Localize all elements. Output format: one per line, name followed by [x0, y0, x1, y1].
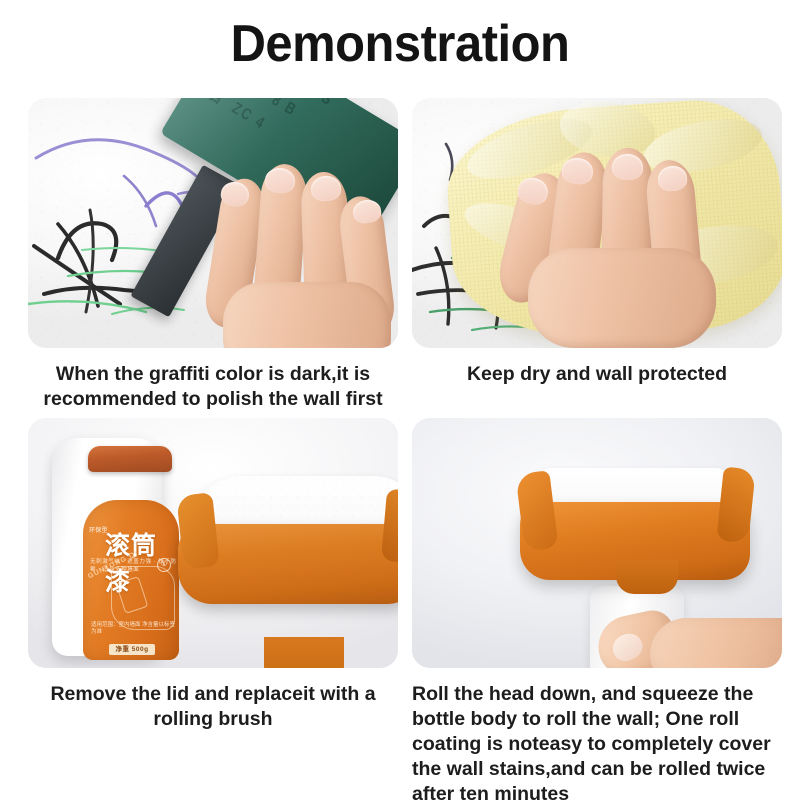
photo-polish-wall: QBTAOZC 45 S研磨海绵 8 B细目 ZC 4: [28, 98, 398, 348]
paint-bottle: 环保型 滚筒漆 无刺激气味 · 遮盖力强 · 快干防霉 · 适合多种墙面 GUN…: [52, 438, 162, 656]
caption-polish-wall: When the graffiti color is dark,it is re…: [28, 362, 398, 412]
roller-arm-left: [176, 492, 220, 569]
photo-roll-wall: [412, 418, 782, 668]
bottle-cap: [88, 446, 172, 472]
photo-replace-lid: 环保型 滚筒漆 无刺激气味 · 遮盖力强 · 快干防霉 · 适合多种墙面 GUN…: [28, 418, 398, 668]
panel-replace-lid: 环保型 滚筒漆 无刺激气味 · 遮盖力强 · 快干防霉 · 适合多种墙面 GUN…: [28, 418, 398, 732]
palm: [650, 618, 782, 668]
panel-polish-wall: QBTAOZC 45 S研磨海绵 8 B细目 ZC 4 When the gra…: [28, 98, 398, 412]
hand-wiping: [508, 126, 758, 348]
roller-stem: [264, 637, 344, 668]
photo-keep-dry: [412, 98, 782, 348]
roller-brush-head: [178, 476, 398, 661]
panel-keep-dry: Keep dry and wall protected: [412, 98, 782, 387]
label-illustration: [111, 566, 175, 630]
page-title: Demonstration: [24, 14, 776, 74]
demonstration-infographic: Demonstration: [0, 0, 800, 800]
thumb-nail: [608, 629, 646, 666]
roller-stem: [616, 560, 678, 594]
label-footer-text: 适用范围：室内墙面 净含量以标签为准: [91, 622, 179, 636]
hand-squeezing-bottle: [598, 604, 782, 668]
caption-keep-dry: Keep dry and wall protected: [412, 362, 782, 387]
hand-holding-sponge: [195, 156, 398, 348]
bottle-label: 环保型 滚筒漆 无刺激气味 · 遮盖力强 · 快干防霉 · 适合多种墙面 GUN…: [83, 500, 179, 660]
panel-grid: QBTAOZC 45 S研磨海绵 8 B细目 ZC 4 When the gra…: [0, 98, 800, 798]
label-step-badge: ①: [157, 558, 171, 572]
roller-brush-head: [520, 468, 750, 588]
label-net-weight: 净重 500g: [109, 644, 155, 655]
panel-roll-wall: Roll the head down, and squeeze the bott…: [412, 418, 782, 807]
caption-roll-wall: Roll the head down, and squeeze the bott…: [412, 682, 782, 807]
caption-replace-lid: Remove the lid and replaceit with a roll…: [28, 682, 398, 732]
